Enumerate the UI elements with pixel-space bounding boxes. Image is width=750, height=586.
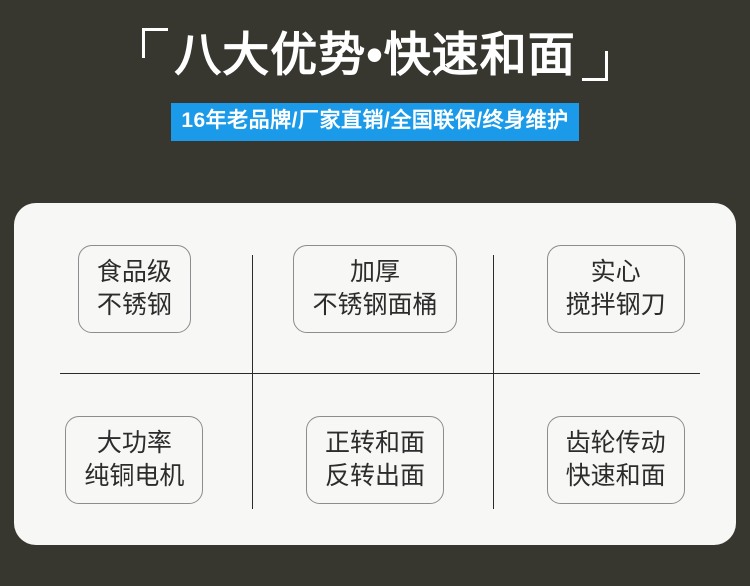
- feature-line-1b: 不锈钢: [97, 289, 172, 322]
- feature-line-5a: 正转和面: [325, 427, 425, 460]
- feature-line-2b: 不锈钢面桶: [312, 289, 437, 322]
- feature-cell-3: 实心 搅拌钢刀: [495, 203, 736, 374]
- feature-pill-3[interactable]: 实心 搅拌钢刀: [547, 245, 685, 333]
- bracket-open-icon: [142, 28, 168, 58]
- features-grid: 食品级 不锈钢 加厚 不锈钢面桶 实心 搅拌钢刀 大功率 纯铜电机 正转和面: [14, 203, 736, 545]
- feature-cell-5: 正转和面 反转出面: [255, 374, 496, 545]
- subtitle-banner: 16年老品牌/厂家直销/全国联保/终身维护: [171, 103, 578, 140]
- feature-cell-1: 食品级 不锈钢: [14, 203, 255, 374]
- feature-line-4b: 纯铜电机: [84, 460, 184, 493]
- feature-cell-4: 大功率 纯铜电机: [14, 374, 255, 545]
- title-row: 八大优势•快速和面: [140, 26, 609, 84]
- feature-cell-2: 加厚 不锈钢面桶: [255, 203, 496, 374]
- feature-line-6a: 齿轮传动: [566, 427, 666, 460]
- feature-pill-5[interactable]: 正转和面 反转出面: [306, 416, 444, 504]
- feature-pill-1[interactable]: 食品级 不锈钢: [78, 245, 191, 333]
- feature-pill-4[interactable]: 大功率 纯铜电机: [65, 416, 203, 504]
- feature-line-4a: 大功率: [84, 427, 184, 460]
- feature-line-2a: 加厚: [312, 256, 437, 289]
- feature-pill-2[interactable]: 加厚 不锈钢面桶: [293, 245, 456, 333]
- feature-line-1a: 食品级: [97, 256, 172, 289]
- feature-line-5b: 反转出面: [325, 460, 425, 493]
- subtitle-wrap: 16年老品牌/厂家直销/全国联保/终身维护: [0, 103, 750, 140]
- feature-line-3a: 实心: [566, 256, 666, 289]
- page-header: 八大优势•快速和面 16年老品牌/厂家直销/全国联保/终身维护: [0, 0, 750, 141]
- feature-line-3b: 搅拌钢刀: [566, 289, 666, 322]
- feature-cell-6: 齿轮传动 快速和面: [495, 374, 736, 545]
- feature-line-6b: 快速和面: [566, 460, 666, 493]
- bracket-close-icon: [582, 51, 608, 81]
- features-panel: 食品级 不锈钢 加厚 不锈钢面桶 实心 搅拌钢刀 大功率 纯铜电机 正转和面: [14, 203, 736, 545]
- feature-pill-6[interactable]: 齿轮传动 快速和面: [547, 416, 685, 504]
- page-title: 八大优势•快速和面: [174, 26, 575, 84]
